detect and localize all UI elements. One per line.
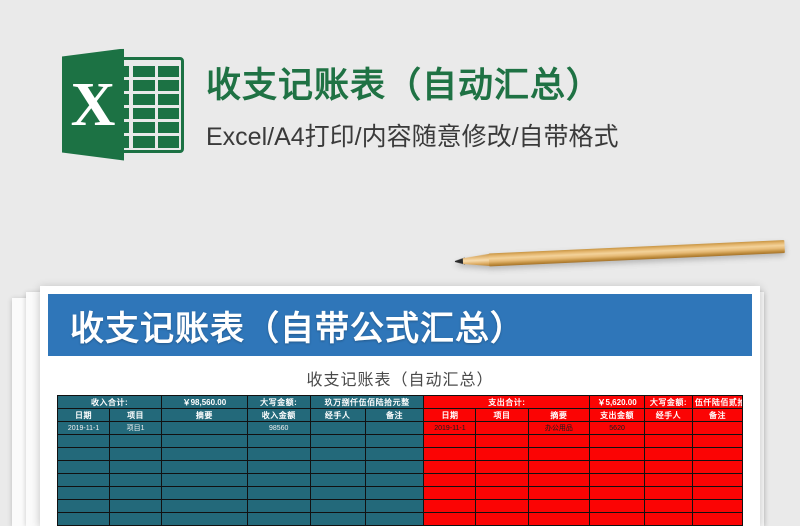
expense-header-3[interactable]: 支出金额 — [590, 409, 645, 422]
spreadsheet-area: 收支记账表（自动汇总） 收入合计:￥98,560.00大写金额:玖万捌仟伍佰陆拾… — [48, 356, 752, 526]
expense-header-2[interactable]: 摘要 — [528, 409, 590, 422]
expense-cell-6-2[interactable] — [528, 500, 590, 513]
income-cell-5-1[interactable] — [110, 487, 162, 500]
ledger-table[interactable]: 收入合计:￥98,560.00大写金额:玖万捌仟伍佰陆拾元整支出合计:￥5,62… — [57, 395, 743, 526]
expense-cell-2-5[interactable] — [692, 448, 742, 461]
expense-cell-6-4[interactable] — [644, 500, 692, 513]
excel-logo-icon: X — [62, 49, 184, 161]
ledger-header-row: 日期项目摘要收入金额经手人备注日期项目摘要支出金额经手人备注 — [58, 409, 743, 422]
income-cell-4-0[interactable] — [58, 474, 110, 487]
table-row[interactable] — [58, 474, 743, 487]
expense-header-5[interactable]: 备注 — [692, 409, 742, 422]
sheet-banner: 收支记账表（自带公式汇总） — [48, 294, 752, 356]
income-cell-7-4[interactable] — [310, 513, 365, 526]
table-row[interactable] — [58, 500, 743, 513]
excel-logo-letter: X — [62, 49, 124, 161]
income-cell-4-2[interactable] — [162, 474, 248, 487]
expense-capital-label[interactable]: 大写金额: — [644, 396, 692, 409]
table-row[interactable] — [58, 448, 743, 461]
income-cell-2-5[interactable] — [365, 448, 424, 461]
expense-cell-0-4[interactable] — [644, 422, 692, 435]
expense-header-0[interactable]: 日期 — [424, 409, 476, 422]
income-cell-7-5[interactable] — [365, 513, 424, 526]
income-cell-5-2[interactable] — [162, 487, 248, 500]
income-header-2[interactable]: 摘要 — [162, 409, 248, 422]
expense-cell-5-1[interactable] — [476, 487, 528, 500]
ledger-body: 收入合计:￥98,560.00大写金额:玖万捌仟伍佰陆拾元整支出合计:￥5,62… — [58, 396, 743, 526]
sheet-banner-title: 收支记账表（自带公式汇总） — [70, 301, 525, 350]
income-cell-4-1[interactable] — [110, 474, 162, 487]
income-total-label[interactable]: 收入合计: — [58, 396, 162, 409]
expense-cell-4-2[interactable] — [528, 474, 590, 487]
expense-header-4[interactable]: 经手人 — [644, 409, 692, 422]
expense-cell-0-2[interactable]: 办公用品 — [528, 422, 590, 435]
table-row[interactable] — [58, 461, 743, 474]
preview-card: 收支记账表（自带公式汇总） 收支记账表（自动汇总） 收入合计:￥98,560.0… — [40, 286, 760, 526]
expense-total-value[interactable]: ￥5,620.00 — [590, 396, 645, 409]
income-cell-7-3[interactable] — [247, 513, 310, 526]
expense-cell-7-0[interactable] — [424, 513, 476, 526]
income-capital-value[interactable]: 玖万捌仟伍佰陆拾元整 — [310, 396, 424, 409]
income-cell-6-4[interactable] — [310, 500, 365, 513]
income-cell-5-4[interactable] — [310, 487, 365, 500]
income-cell-6-0[interactable] — [58, 500, 110, 513]
income-cell-2-0[interactable] — [58, 448, 110, 461]
income-cell-2-1[interactable] — [110, 448, 162, 461]
income-cell-4-5[interactable] — [365, 474, 424, 487]
income-cell-3-2[interactable] — [162, 461, 248, 474]
income-capital-label[interactable]: 大写金额: — [247, 396, 310, 409]
table-row[interactable] — [58, 487, 743, 500]
income-cell-7-2[interactable] — [162, 513, 248, 526]
expense-cell-0-5[interactable] — [692, 422, 742, 435]
income-cell-3-1[interactable] — [110, 461, 162, 474]
expense-cell-3-4[interactable] — [644, 461, 692, 474]
expense-cell-0-1[interactable] — [476, 422, 528, 435]
pencil-body — [489, 240, 785, 266]
expense-cell-5-2[interactable] — [528, 487, 590, 500]
expense-cell-5-0[interactable] — [424, 487, 476, 500]
income-cell-4-3[interactable] — [247, 474, 310, 487]
spreadsheet-title: 收支记账表（自动汇总） — [57, 363, 743, 395]
expense-cell-3-5[interactable] — [692, 461, 742, 474]
expense-cell-7-1[interactable] — [476, 513, 528, 526]
expense-total-label[interactable]: 支出合计: — [424, 396, 590, 409]
expense-cell-1-1[interactable] — [476, 435, 528, 448]
income-cell-6-3[interactable] — [247, 500, 310, 513]
income-cell-4-4[interactable] — [310, 474, 365, 487]
expense-cell-7-5[interactable] — [692, 513, 742, 526]
expense-cell-7-4[interactable] — [644, 513, 692, 526]
expense-cell-4-4[interactable] — [644, 474, 692, 487]
brand-text-block: 收支记账表（自动汇总） Excel/A4打印/内容随意修改/自带格式 — [206, 62, 619, 153]
expense-cell-0-0[interactable]: 2019-11-1 — [424, 422, 476, 435]
expense-cell-4-0[interactable] — [424, 474, 476, 487]
expense-cell-4-3[interactable] — [590, 474, 645, 487]
expense-cell-2-1[interactable] — [476, 448, 528, 461]
expense-cell-1-3[interactable] — [590, 435, 645, 448]
income-cell-0-4[interactable] — [310, 422, 365, 435]
income-cell-0-2[interactable] — [162, 422, 248, 435]
expense-cell-2-4[interactable] — [644, 448, 692, 461]
income-cell-2-2[interactable] — [162, 448, 248, 461]
expense-cell-0-3[interactable]: 5620 — [590, 422, 645, 435]
income-cell-6-1[interactable] — [110, 500, 162, 513]
income-cell-3-5[interactable] — [365, 461, 424, 474]
income-cell-6-5[interactable] — [365, 500, 424, 513]
income-header-3[interactable]: 收入金额 — [247, 409, 310, 422]
expense-cell-1-5[interactable] — [692, 435, 742, 448]
expense-capital-value[interactable]: 伍仟陆佰贰拾元整 — [692, 396, 742, 409]
expense-cell-7-3[interactable] — [590, 513, 645, 526]
income-cell-1-5[interactable] — [365, 435, 424, 448]
expense-header-1[interactable]: 项目 — [476, 409, 528, 422]
income-cell-3-3[interactable] — [247, 461, 310, 474]
income-cell-0-5[interactable] — [365, 422, 424, 435]
expense-cell-3-2[interactable] — [528, 461, 590, 474]
income-header-1[interactable]: 项目 — [110, 409, 162, 422]
income-cell-3-0[interactable] — [58, 461, 110, 474]
income-header-0[interactable]: 日期 — [58, 409, 110, 422]
income-total-value[interactable]: ￥98,560.00 — [162, 396, 248, 409]
expense-cell-1-4[interactable] — [644, 435, 692, 448]
expense-cell-4-5[interactable] — [692, 474, 742, 487]
income-cell-1-0[interactable] — [58, 435, 110, 448]
table-row[interactable] — [58, 513, 743, 526]
expense-cell-3-0[interactable] — [424, 461, 476, 474]
expense-cell-1-0[interactable] — [424, 435, 476, 448]
expense-cell-7-2[interactable] — [528, 513, 590, 526]
income-cell-0-0[interactable]: 2019-11-1 — [58, 422, 110, 435]
table-row[interactable] — [58, 435, 743, 448]
expense-cell-5-5[interactable] — [692, 487, 742, 500]
expense-cell-4-1[interactable] — [476, 474, 528, 487]
ledger-summary-row: 收入合计:￥98,560.00大写金额:玖万捌仟伍佰陆拾元整支出合计:￥5,62… — [58, 396, 743, 409]
expense-cell-1-2[interactable] — [528, 435, 590, 448]
table-row[interactable]: 2019-11-1项目1985602019-11-1办公用品5620 — [58, 422, 743, 435]
expense-cell-3-3[interactable] — [590, 461, 645, 474]
expense-cell-6-1[interactable] — [476, 500, 528, 513]
income-cell-0-3[interactable]: 98560 — [247, 422, 310, 435]
income-cell-2-4[interactable] — [310, 448, 365, 461]
expense-cell-5-3[interactable] — [590, 487, 645, 500]
brand-header: X 收支记账表（自动汇总） Excel/A4打印/内容随意修改/自带格式 — [0, 0, 800, 215]
income-cell-1-1[interactable] — [110, 435, 162, 448]
page-subtitle: Excel/A4打印/内容随意修改/自带格式 — [206, 122, 619, 153]
expense-cell-3-1[interactable] — [476, 461, 528, 474]
income-cell-3-4[interactable] — [310, 461, 365, 474]
expense-cell-2-3[interactable] — [590, 448, 645, 461]
expense-cell-2-2[interactable] — [528, 448, 590, 461]
expense-cell-2-0[interactable] — [424, 448, 476, 461]
page-title: 收支记账表（自动汇总） — [206, 64, 619, 108]
income-cell-6-2[interactable] — [162, 500, 248, 513]
income-cell-7-0[interactable] — [58, 513, 110, 526]
income-header-4[interactable]: 经手人 — [310, 409, 365, 422]
expense-cell-6-5[interactable] — [692, 500, 742, 513]
expense-cell-6-0[interactable] — [424, 500, 476, 513]
income-cell-1-2[interactable] — [162, 435, 248, 448]
excel-logo-grid — [133, 66, 179, 148]
income-cell-5-3[interactable] — [247, 487, 310, 500]
income-cell-1-3[interactable] — [247, 435, 310, 448]
income-header-5[interactable]: 备注 — [365, 409, 424, 422]
income-cell-5-5[interactable] — [365, 487, 424, 500]
income-cell-2-3[interactable] — [247, 448, 310, 461]
income-cell-0-1[interactable]: 项目1 — [110, 422, 162, 435]
expense-cell-6-3[interactable] — [590, 500, 645, 513]
income-cell-1-4[interactable] — [310, 435, 365, 448]
income-cell-7-1[interactable] — [110, 513, 162, 526]
income-cell-5-0[interactable] — [58, 487, 110, 500]
expense-cell-5-4[interactable] — [644, 487, 692, 500]
pencil-icon — [455, 237, 786, 274]
